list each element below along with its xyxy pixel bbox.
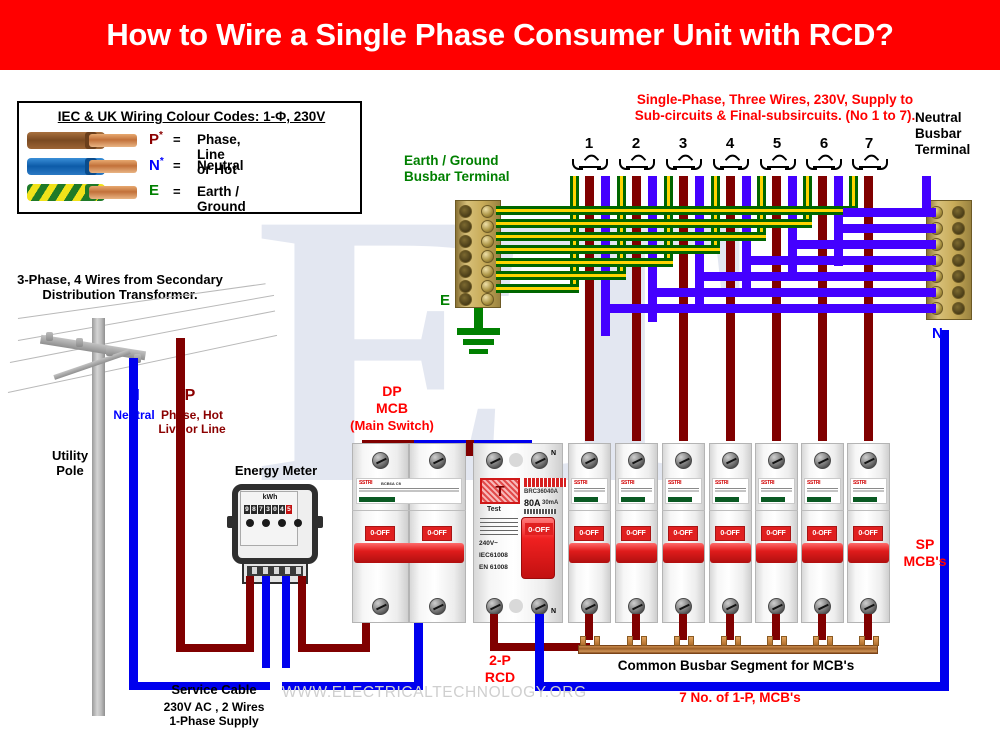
rcd-standard-iec: IEC61008 [479, 552, 508, 561]
neutral-busbar-n-marker: N [932, 325, 943, 343]
sp-mcb-4-brand: SSTRI [715, 480, 728, 486]
legend-heading: IEC & UK Wiring Colour Codes: 1-Φ, 230V [19, 109, 364, 124]
ground-symbol-bar-3 [469, 349, 488, 354]
ground-symbol-bar-2 [463, 339, 494, 345]
service-phase-drop [176, 338, 185, 650]
meter-register: 9 8 7 3 0 4 5 [244, 505, 292, 514]
sp-mcb-7-terminal-top [860, 452, 877, 469]
meter-phase-out [298, 576, 306, 652]
sp-mcb-2-rating-label: SSTRI [618, 478, 655, 504]
sp-mcb-5-rocker[interactable] [756, 543, 797, 563]
legend-symbol-earth: E [149, 182, 159, 199]
meter-terminal [285, 567, 290, 574]
sp-mcb-3-rocker[interactable] [663, 543, 704, 563]
circuit-6-neutral-riser [834, 176, 843, 266]
neutral-busbar-hole [952, 254, 965, 267]
neutral-busbar-hole [952, 206, 965, 219]
neutral-busbar-hole [952, 286, 965, 299]
rcd-spec-strip [524, 509, 556, 514]
earth-busbar-screw[interactable] [481, 265, 494, 278]
sp-mcb-2-rocker[interactable] [616, 543, 657, 563]
earth-run-3 [496, 258, 673, 267]
busbar-pin [873, 636, 879, 646]
earth-busbar-hole [459, 235, 472, 248]
watermark-url: WWW.ELECTRICALTECHNOLOGY.ORG [282, 684, 587, 702]
rcd-terminal-bottom-line [486, 598, 503, 615]
rcd-test-button[interactable]: T [480, 478, 520, 504]
busbar-pin [580, 636, 586, 646]
busbar-pin [813, 636, 819, 646]
sp-mcb-4-busbar-stub [726, 614, 734, 640]
sp-mcb-3-spec-lines [668, 488, 699, 493]
circuit-number-1: 1 [571, 135, 607, 153]
sp-mcb-6-brand: SSTRI [807, 480, 820, 486]
sp-mcb-3-terminal-top [675, 452, 692, 469]
neutral-run-5 [788, 240, 936, 249]
sp-mcb-5-spec-lines [761, 488, 792, 493]
busbar-pin [721, 636, 727, 646]
legend-text-earth: Earth / Ground [197, 184, 246, 214]
sp-mcb-3-rating-label: SSTRI [665, 478, 702, 504]
wiring-diagram-page: How to Wire a Single Phase Consumer Unit… [0, 0, 1000, 750]
circuit-number-7: 7 [851, 135, 887, 153]
neutral-run-3 [695, 272, 936, 281]
neutral-busbar-hole [952, 238, 965, 251]
dp-mcb-label: DP MCB [346, 383, 438, 416]
rcd-top-plug [509, 453, 523, 467]
sp-mcb-6-green-strip [807, 497, 831, 502]
sp-mcb-1-green-strip [574, 497, 598, 502]
earth-run-4 [496, 245, 720, 254]
dp-mcb-green-strip [359, 497, 395, 502]
meter-terminal [274, 567, 279, 574]
sp-mcb-3-terminal-bottom [675, 598, 692, 615]
dp-mcb-spec-lines [359, 488, 459, 493]
earth-busbar-hole [459, 250, 472, 263]
sp-mcb-7-green-strip [853, 497, 877, 502]
neutral-busbar-hole [952, 270, 965, 283]
rcd-label: 2-P RCD [465, 652, 535, 685]
rcd-standard-en: EN 61008 [479, 564, 508, 573]
sp-mcb-7-rocker[interactable] [848, 543, 889, 563]
pole-insulator [46, 332, 53, 341]
sp-mcb-6-terminal-bottom [814, 598, 831, 615]
circuit-brace-7 [852, 157, 888, 169]
dp-mcb-terminal-top-2 [429, 452, 446, 469]
rcd-test-label: Test [487, 506, 501, 513]
earth-busbar-label: Earth / Ground Busbar Terminal [404, 153, 584, 185]
sp-mcb-4-terminal-top [722, 452, 739, 469]
sp-mcb-2-busbar-stub [632, 614, 640, 640]
sp-mcb-1-terminal-top [581, 452, 598, 469]
dp-mcb-terminal-bottom-1 [372, 598, 389, 615]
sp-mcb-1-off-flag: 0-OFF [574, 526, 604, 541]
sp-mcb-5-green-strip [761, 497, 785, 502]
sp-mcb-2-brand: SSTRI [621, 480, 634, 486]
neutral-run-7 [843, 208, 936, 217]
dp-mcb-brand: SSTRI [359, 480, 372, 486]
sp-mcb-3-brand: SSTRI [668, 480, 681, 486]
sp-mcb-3-busbar-stub [679, 614, 687, 640]
transformer-note: 3-Phase, 4 Wires from Secondary Distribu… [0, 272, 240, 303]
neutral-wire-swatch [27, 158, 137, 175]
circuit-number-5: 5 [759, 135, 795, 153]
sp-mcb-6-rating-label: SSTRI [804, 478, 841, 504]
earth-run-6 [496, 219, 812, 228]
neutral-run-6 [834, 224, 936, 233]
dp-mcb-model: BCB6A Cfi [381, 481, 401, 486]
meter-dial [278, 519, 286, 527]
rcd-bottom-n-marker: N [551, 608, 556, 615]
sp-mcb-7-spec-lines [853, 488, 884, 493]
rcd-bottom-plug [509, 599, 523, 613]
neutral-busbar-hole [952, 302, 965, 315]
neutral-busbar-hole [952, 222, 965, 235]
earth-busbar-screw[interactable] [481, 235, 494, 248]
earth-busbar-hole [459, 265, 472, 278]
meter-digit: 8 [251, 505, 257, 514]
rcd-terminal-top-line [486, 452, 503, 469]
busbar-pin [641, 636, 647, 646]
meter-neutral-in [262, 576, 270, 668]
earth-busbar-screw[interactable] [481, 220, 494, 233]
earth-busbar-screw[interactable] [481, 293, 494, 306]
earth-wire-swatch [27, 184, 137, 201]
circuit-number-6: 6 [806, 135, 842, 153]
service-phase-symbol: P [160, 387, 220, 406]
meter-digit: 7 [258, 505, 264, 514]
sp-mcb-1-seam [568, 510, 611, 511]
energy-meter-label: Energy Meter [215, 463, 337, 478]
meter-neutral-out [282, 576, 290, 668]
rcd-neutral-out-drop [535, 614, 544, 690]
circuit-brace-6 [806, 157, 842, 169]
earth-run-7 [496, 206, 858, 215]
sp-mcb-7-rating-label: SSTRI [850, 478, 887, 504]
pole-insulator [106, 347, 113, 356]
busbar-pin [827, 636, 833, 646]
sp-mcb-2-spec-lines [621, 488, 652, 493]
rcd-test-glyph: T [495, 483, 504, 500]
sp-mcb-4-rocker[interactable] [710, 543, 751, 563]
rcd-model: BRC36040A [524, 489, 558, 495]
ground-symbol-bar-1 [457, 328, 500, 335]
busbar-pin [735, 636, 741, 646]
earth-busbar-hole [459, 293, 472, 306]
sp-mcb-4-spec-lines [715, 488, 746, 493]
sp-mcb-2-off-flag: 0-OFF [621, 526, 651, 541]
meter-digit: 3 [265, 505, 271, 514]
earth-run-2 [496, 271, 626, 280]
sp-mcb-2-terminal-top [628, 452, 645, 469]
sp-mcb-5-rating-label: SSTRI [758, 478, 795, 504]
sp-mcb-7-terminal-bottom [860, 598, 877, 615]
phase-loop-bottom-left [176, 644, 254, 652]
sp-mcb-2-terminal-bottom [628, 598, 645, 615]
meter-dial [294, 519, 302, 527]
sp-mcb-1-rating-label: SSTRI [571, 478, 608, 504]
busbar-pin [674, 636, 680, 646]
sp-mcb-5-terminal-top [768, 452, 785, 469]
rcd-sensitivity: 30mA [542, 500, 558, 506]
legend-eq-phase: = [173, 132, 181, 147]
sp-mcb-6-terminal-top [814, 452, 831, 469]
circuit-brace-3 [666, 157, 702, 169]
meter-dial [262, 519, 270, 527]
busbar-pin [688, 636, 694, 646]
common-busbar-segment[interactable] [578, 645, 878, 654]
dp-mcb-terminal-bottom-2 [429, 598, 446, 615]
phase-wire-swatch [27, 132, 137, 149]
sp-mcb-7-busbar-stub [864, 614, 872, 640]
utility-pole [92, 318, 105, 716]
ground-symbol-stem [474, 308, 483, 330]
earth-busbar-hole [459, 280, 472, 293]
rcd-schematic-diagram [480, 518, 518, 536]
sp-mcb-7-off-flag: 0-OFF [853, 526, 883, 541]
meter-phase-in [246, 576, 254, 652]
meter-terminal [263, 567, 268, 574]
dp-mcb-off-flag-2: 0-OFF [422, 526, 452, 541]
earth-busbar-screw[interactable] [481, 250, 494, 263]
meter-dial [246, 519, 254, 527]
wiring-colour-code-legend: IEC & UK Wiring Colour Codes: 1-Φ, 230V … [17, 101, 362, 214]
sp-mcb-3-green-strip [668, 497, 692, 502]
earth-run-5 [496, 232, 766, 241]
sp-mcb-4-off-flag: 0-OFF [715, 526, 745, 541]
sp-mcb-5-seam [755, 510, 798, 511]
circuit-7-neutral-riser [922, 176, 931, 212]
rcd-off-flag: 0-OFF [525, 523, 553, 535]
dp-mcb-off-flag-1: 0-OFF [365, 526, 395, 541]
sp-mcb-5-brand: SSTRI [761, 480, 774, 486]
meter-digit: 4 [279, 505, 285, 514]
sp-mcb-2-green-strip [621, 497, 645, 502]
legend-symbol-phase: P* [149, 130, 163, 148]
sp-mcb-2-seam [615, 510, 658, 511]
utility-pole-label: Utility Pole [30, 448, 110, 479]
sp-mcb-6-busbar-stub [818, 614, 826, 640]
circuit-number-2: 2 [618, 135, 654, 153]
earth-busbar-hole [459, 220, 472, 233]
sp-mcb-4-seam [709, 510, 752, 511]
legend-eq-neutral: = [173, 158, 181, 173]
rcd-current-rating: 80A [524, 498, 541, 508]
service-phase-label: Phase, Hot Live or Line [150, 408, 234, 436]
sp-mcb-6-seam [801, 510, 844, 511]
earth-e-marker: E [440, 292, 450, 310]
sp-mcb-6-off-flag: 0-OFF [807, 526, 837, 541]
sp-mcbs-label: SP MCB's [890, 536, 960, 569]
rcd-brand-bar [524, 478, 566, 487]
meter-ear-left [227, 516, 234, 528]
page-title: How to Wire a Single Phase Consumer Unit… [0, 0, 1000, 70]
sp-mcb-6-rocker[interactable] [802, 543, 843, 563]
busbar-pin [781, 636, 787, 646]
dp-mcb-seam [352, 510, 466, 511]
dp-mcb-rocker[interactable] [354, 543, 464, 563]
circuit-1-phase-riser [585, 176, 594, 441]
supply-note: Single-Phase, Three Wires, 230V, Supply … [560, 92, 990, 124]
rcd-rocker[interactable]: 0-OFF [521, 517, 555, 579]
meter-terminal [252, 567, 257, 574]
seven-mcbs-label: 7 No. of 1-P, MCB's [620, 690, 860, 706]
earth-busbar-screw[interactable] [481, 205, 494, 218]
meter-digit-tenths: 5 [286, 505, 292, 514]
sp-mcb-1-spec-lines [574, 488, 605, 493]
sp-mcb-5-off-flag: 0-OFF [761, 526, 791, 541]
sp-mcb-5-terminal-bottom [768, 598, 785, 615]
circuit-brace-2 [619, 157, 655, 169]
sp-mcb-1-brand: SSTRI [574, 480, 587, 486]
sp-mcb-6-spec-lines [807, 488, 838, 493]
rcd-top-n-marker: N [551, 450, 556, 457]
busbar-pin [859, 636, 865, 646]
energy-meter[interactable]: kWh 9 8 7 3 0 4 5 [232, 484, 318, 590]
phase-loop-bottom-right [298, 644, 370, 652]
meter-unit-label: kWh [241, 494, 299, 501]
circuit-7-earth-riser [849, 176, 858, 206]
circuit-1-earth-riser [570, 176, 579, 284]
sp-mcb-4-green-strip [715, 497, 739, 502]
neutral-run-2 [648, 288, 936, 297]
common-busbar-label: Common Busbar Segment for MCB's [586, 658, 886, 674]
legend-eq-earth: = [173, 184, 181, 199]
service-cable-spec: 230V AC , 2 Wires 1-Phase Supply [134, 700, 294, 728]
circuit-brace-5 [760, 157, 796, 169]
circuit-number-3: 3 [665, 135, 701, 153]
sp-mcb-1-busbar-stub [585, 614, 593, 640]
legend-symbol-neutral: N* [149, 156, 164, 174]
sp-mcb-4-rating-label: SSTRI [712, 478, 749, 504]
dp-mcb-sub-label: (Main Switch) [332, 418, 452, 433]
rcd-voltage: 240V~ [479, 540, 498, 549]
dp-mcb-terminal-top-1 [372, 452, 389, 469]
pole-insulator [76, 338, 83, 347]
rcd-terminal-bottom-neutral [531, 598, 548, 615]
earth-run-1 [496, 284, 579, 293]
circuit-number-4: 4 [712, 135, 748, 153]
dp-mcb-rating-label: SSTRI BCB6A Cfi [356, 478, 462, 504]
sp-mcb-3-off-flag: 0-OFF [668, 526, 698, 541]
sp-mcb-5-busbar-stub [772, 614, 780, 640]
sp-mcb-4-terminal-bottom [722, 598, 739, 615]
meter-digit: 0 [272, 505, 278, 514]
earth-busbar-screw[interactable] [481, 280, 494, 293]
meter-terminal [296, 567, 301, 574]
sp-mcb-7-seam [847, 510, 890, 511]
legend-text-neutral: Neutral [197, 158, 244, 173]
meter-face: kWh 9 8 7 3 0 4 5 [240, 491, 298, 546]
neutral-busbar-feed [940, 330, 949, 688]
sp-mcb-1-rocker[interactable] [569, 543, 610, 563]
sp-mcb-1-terminal-bottom [581, 598, 598, 615]
neutral-run-1 [601, 304, 936, 313]
circuit-brace-1 [572, 157, 608, 169]
earth-busbar-hole [459, 205, 472, 218]
service-neutral-drop [129, 358, 138, 690]
service-cable-label: Service Cable [144, 682, 284, 697]
meter-ear-right [316, 516, 323, 528]
meter-dials [246, 519, 302, 527]
sp-mcb-7-brand: SSTRI [853, 480, 866, 486]
busbar-pin [627, 636, 633, 646]
meter-digit: 9 [244, 505, 250, 514]
sp-mcb-3-seam [662, 510, 705, 511]
circuit-brace-4 [713, 157, 749, 169]
neutral-run-4 [742, 256, 936, 265]
busbar-pin [594, 636, 600, 646]
rcd-terminal-top-neutral [531, 452, 548, 469]
busbar-pin [767, 636, 773, 646]
